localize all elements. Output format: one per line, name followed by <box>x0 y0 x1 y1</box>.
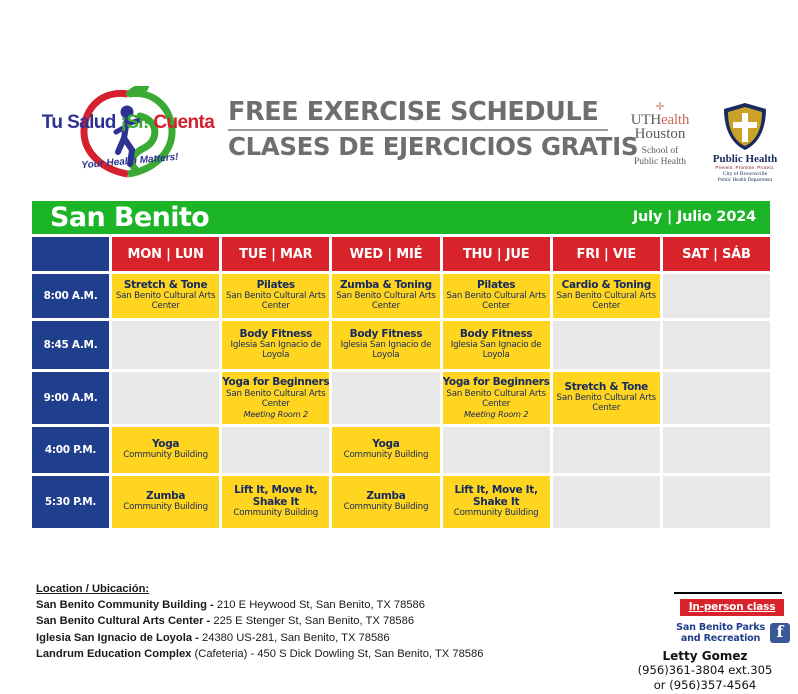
facebook-icon[interactable] <box>770 623 790 643</box>
class-cell[interactable]: Cardio & ToningSan Benito Cultural Arts … <box>553 274 660 318</box>
contact-block: In-person class San Benito Parks and Rec… <box>620 592 790 692</box>
class-cell[interactable]: ZumbaCommunity Building <box>112 476 219 528</box>
parks-recreation-label: San Benito Parks and Recreation <box>676 622 765 644</box>
time-label: 4:00 P.M. <box>45 444 96 456</box>
uthealth-logo: ✛ UTHealth Houston School of Public Heal… <box>622 104 698 169</box>
day-header-sat: SAT | SÁB <box>663 237 770 271</box>
class-location: San Benito Cultural Arts Center <box>222 390 329 410</box>
class-location: San Benito Cultural Arts Center <box>553 394 660 414</box>
empty-cell <box>332 372 439 424</box>
city-name: San Benito <box>50 202 209 233</box>
class-name: Stretch & Tone <box>565 382 648 394</box>
locations-title: Location / Ubicación: <box>36 581 483 597</box>
class-cell[interactable]: Yoga for BeginnersSan Benito Cultural Ar… <box>443 372 550 424</box>
time-label-cell: 4:00 P.M. <box>32 427 109 473</box>
location-name: San Benito Community Building - <box>36 599 217 611</box>
class-name: Zumba <box>366 491 405 503</box>
class-name: Lift It, Move It, Shake It <box>443 485 550 509</box>
class-name: Body Fitness <box>460 329 533 341</box>
class-location: San Benito Cultural Arts Center <box>443 390 550 410</box>
class-name: Pilates <box>257 280 295 292</box>
location-address: 24380 US-281, San Benito, TX 78586 <box>202 632 390 644</box>
empty-cell <box>222 427 329 473</box>
class-cell[interactable]: ZumbaCommunity Building <box>332 476 439 528</box>
day-header-thu: THU | JUE <box>443 237 550 271</box>
class-name: Zumba <box>146 491 185 503</box>
public-health-title: Public Health <box>706 153 784 165</box>
empty-cell <box>553 321 660 369</box>
title-spanish: CLASES DE EJERCICIOS GRATIS <box>228 131 608 161</box>
uthealth-school-line1: School of <box>622 146 698 157</box>
empty-cell <box>663 274 770 318</box>
divider <box>674 592 782 594</box>
day-header-label: SAT | SÁB <box>682 247 751 262</box>
class-name: Yoga <box>152 439 179 451</box>
location-address: (Cafeteria) - 450 S Dick Dowling St, San… <box>195 648 484 660</box>
corner-blank-cell <box>32 237 109 271</box>
locations-list: San Benito Community Building - 210 E He… <box>36 597 483 662</box>
class-name: Cardio & Toning <box>562 280 651 292</box>
class-location: San Benito Cultural Arts Center <box>332 292 439 312</box>
class-location: Iglesia San Ignacio de Loyola <box>222 341 329 361</box>
empty-cell <box>663 476 770 528</box>
class-room: Meeting Room 2 <box>244 410 308 419</box>
day-header-tue: TUE | MAR <box>222 237 329 271</box>
public-health-motto: Prevent. Promote. Protect. <box>706 165 784 170</box>
logo-wordmark: Tu Salud ¡Sí! Cuenta <box>32 112 224 134</box>
location-address: 210 E Heywood St, San Benito, TX 78586 <box>217 599 425 611</box>
time-label: 8:45 A.M. <box>44 339 98 351</box>
status-badge: In-person class <box>680 599 785 616</box>
time-label: 8:00 A.M. <box>44 290 98 302</box>
empty-cell <box>553 476 660 528</box>
empty-cell <box>663 372 770 424</box>
parks-line2: and Recreation <box>676 633 765 644</box>
schedule-row: 8:00 A.M.Stretch & ToneSan Benito Cultur… <box>32 274 770 318</box>
empty-cell <box>112 372 219 424</box>
class-location: San Benito Cultural Arts Center <box>443 292 550 312</box>
empty-cell <box>112 321 219 369</box>
logo-word-si: ¡Sí! <box>121 112 149 133</box>
time-label-cell: 9:00 A.M. <box>32 372 109 424</box>
locations-block: Location / Ubicación: San Benito Communi… <box>36 581 483 662</box>
class-name: Yoga for Beginners <box>222 377 329 389</box>
class-cell[interactable]: PilatesSan Benito Cultural Arts Center <box>222 274 329 318</box>
parks-line1: San Benito Parks <box>676 622 765 633</box>
contact-phone-2: or (956)357-4564 <box>620 678 790 692</box>
logo-word-tu-salud: Tu Salud <box>42 112 116 133</box>
class-location: San Benito Cultural Arts Center <box>553 292 660 312</box>
day-header-wed: WED | MIÉ <box>332 237 439 271</box>
schedule-row: 8:45 A.M.Body FitnessIglesia San Ignacio… <box>32 321 770 369</box>
schedule-row: 4:00 P.M.YogaCommunity BuildingYogaCommu… <box>32 427 770 473</box>
class-cell[interactable]: Body FitnessIglesia San Ignacio de Loyol… <box>332 321 439 369</box>
class-location: Community Building <box>233 509 318 519</box>
class-name: Yoga for Beginners <box>443 377 550 389</box>
contact-phone-1: (956)361-3804 ext.305 <box>620 663 790 677</box>
day-header-label: TUE | MAR <box>239 247 312 262</box>
shield-cross-icon <box>722 102 768 152</box>
schedule-header-row: MON | LUN TUE | MAR WED | MIÉ THU | JUE … <box>32 237 770 271</box>
class-cell[interactable]: Stretch & ToneSan Benito Cultural Arts C… <box>112 274 219 318</box>
empty-cell <box>663 321 770 369</box>
page-header: Tu Salud ¡Sí! Cuenta Your Health Matters… <box>0 0 798 196</box>
location-name: Iglesia San Ignacio de Loyola - <box>36 632 202 644</box>
page-title: FREE EXERCISE SCHEDULE CLASES DE EJERCIC… <box>228 98 608 161</box>
class-name: Stretch & Tone <box>124 280 207 292</box>
class-cell[interactable]: Lift It, Move It, Shake ItCommunity Buil… <box>222 476 329 528</box>
location-line: San Benito Community Building - 210 E He… <box>36 597 483 613</box>
schedule-row: 9:00 A.M.Yoga for BeginnersSan Benito Cu… <box>32 372 770 424</box>
medical-cross-icon: ✛ <box>655 102 664 113</box>
class-location: Community Building <box>123 503 208 513</box>
class-location: Community Building <box>454 509 539 519</box>
class-room: Meeting Room 2 <box>464 410 528 419</box>
class-location: San Benito Cultural Arts Center <box>112 292 219 312</box>
location-name: San Benito Cultural Arts Center - <box>36 615 213 627</box>
class-cell[interactable]: YogaCommunity Building <box>112 427 219 473</box>
day-header-mon: MON | LUN <box>112 237 219 271</box>
empty-cell <box>553 427 660 473</box>
class-cell[interactable]: Body FitnessIglesia San Ignacio de Loyol… <box>443 321 550 369</box>
day-header-fri: FRI | VIE <box>553 237 660 271</box>
month-label: July | Julio 2024 <box>633 209 756 225</box>
class-name: Yoga <box>372 439 399 451</box>
time-label-cell: 8:45 A.M. <box>32 321 109 369</box>
class-location: Community Building <box>344 451 429 461</box>
schedule-grid: MON | LUN TUE | MAR WED | MIÉ THU | JUE … <box>32 237 770 531</box>
day-header-label: MON | LUN <box>128 247 204 262</box>
logo-word-cuenta: Cuenta <box>153 112 214 133</box>
schedule-row: 5:30 P.M.ZumbaCommunity BuildingLift It,… <box>32 476 770 528</box>
location-line: San Benito Cultural Arts Center - 225 E … <box>36 613 483 629</box>
location-line: Landrum Education Complex (Cafeteria) - … <box>36 646 483 662</box>
class-name: Body Fitness <box>239 329 312 341</box>
location-line: Iglesia San Ignacio de Loyola - 24380 US… <box>36 630 483 646</box>
class-name: Pilates <box>477 280 515 292</box>
time-label: 9:00 A.M. <box>44 392 98 404</box>
uthealth-school-line2: Public Health <box>622 157 698 168</box>
city-banner: San Benito July | Julio 2024 <box>32 201 770 234</box>
empty-cell <box>663 427 770 473</box>
public-health-logo: Public Health Prevent. Promote. Protect.… <box>706 102 784 183</box>
day-header-label: THU | JUE <box>463 247 530 262</box>
class-name: Lift It, Move It, Shake It <box>222 485 329 509</box>
empty-cell <box>443 427 550 473</box>
class-location: Community Building <box>123 451 208 461</box>
class-cell[interactable]: Lift It, Move It, Shake ItCommunity Buil… <box>443 476 550 528</box>
class-cell[interactable]: Stretch & ToneSan Benito Cultural Arts C… <box>553 372 660 424</box>
title-english: FREE EXERCISE SCHEDULE <box>228 98 608 131</box>
day-header-label: WED | MIÉ <box>350 247 423 262</box>
class-location: Community Building <box>344 503 429 513</box>
time-label-cell: 5:30 P.M. <box>32 476 109 528</box>
class-cell[interactable]: Yoga for BeginnersSan Benito Cultural Ar… <box>222 372 329 424</box>
time-label-cell: 8:00 A.M. <box>32 274 109 318</box>
class-location: Iglesia San Ignacio de Loyola <box>443 341 550 361</box>
location-name: Landrum Education Complex <box>36 648 195 660</box>
class-cell[interactable]: YogaCommunity Building <box>332 427 439 473</box>
day-header-label: FRI | VIE <box>577 247 637 262</box>
class-location: San Benito Cultural Arts Center <box>222 292 329 312</box>
class-cell[interactable]: Body FitnessIglesia San Ignacio de Loyol… <box>222 321 329 369</box>
class-location: Iglesia San Ignacio de Loyola <box>332 341 439 361</box>
contact-name: Letty Gomez <box>620 649 790 663</box>
class-name: Body Fitness <box>350 329 423 341</box>
class-cell[interactable]: Zumba & ToningSan Benito Cultural Arts C… <box>332 274 439 318</box>
class-cell[interactable]: PilatesSan Benito Cultural Arts Center <box>443 274 550 318</box>
schedule-body: 8:00 A.M.Stretch & ToneSan Benito Cultur… <box>32 274 770 528</box>
class-name: Zumba & Toning <box>340 280 432 292</box>
public-health-org2: Public Health Department <box>706 177 784 183</box>
parks-recreation-row: San Benito Parks and Recreation <box>620 622 790 644</box>
tu-salud-si-cuenta-logo: Tu Salud ¡Sí! Cuenta Your Health Matters… <box>32 86 224 182</box>
time-label: 5:30 P.M. <box>45 496 96 508</box>
location-address: 225 E Stenger St, San Benito, TX 78586 <box>213 615 414 627</box>
